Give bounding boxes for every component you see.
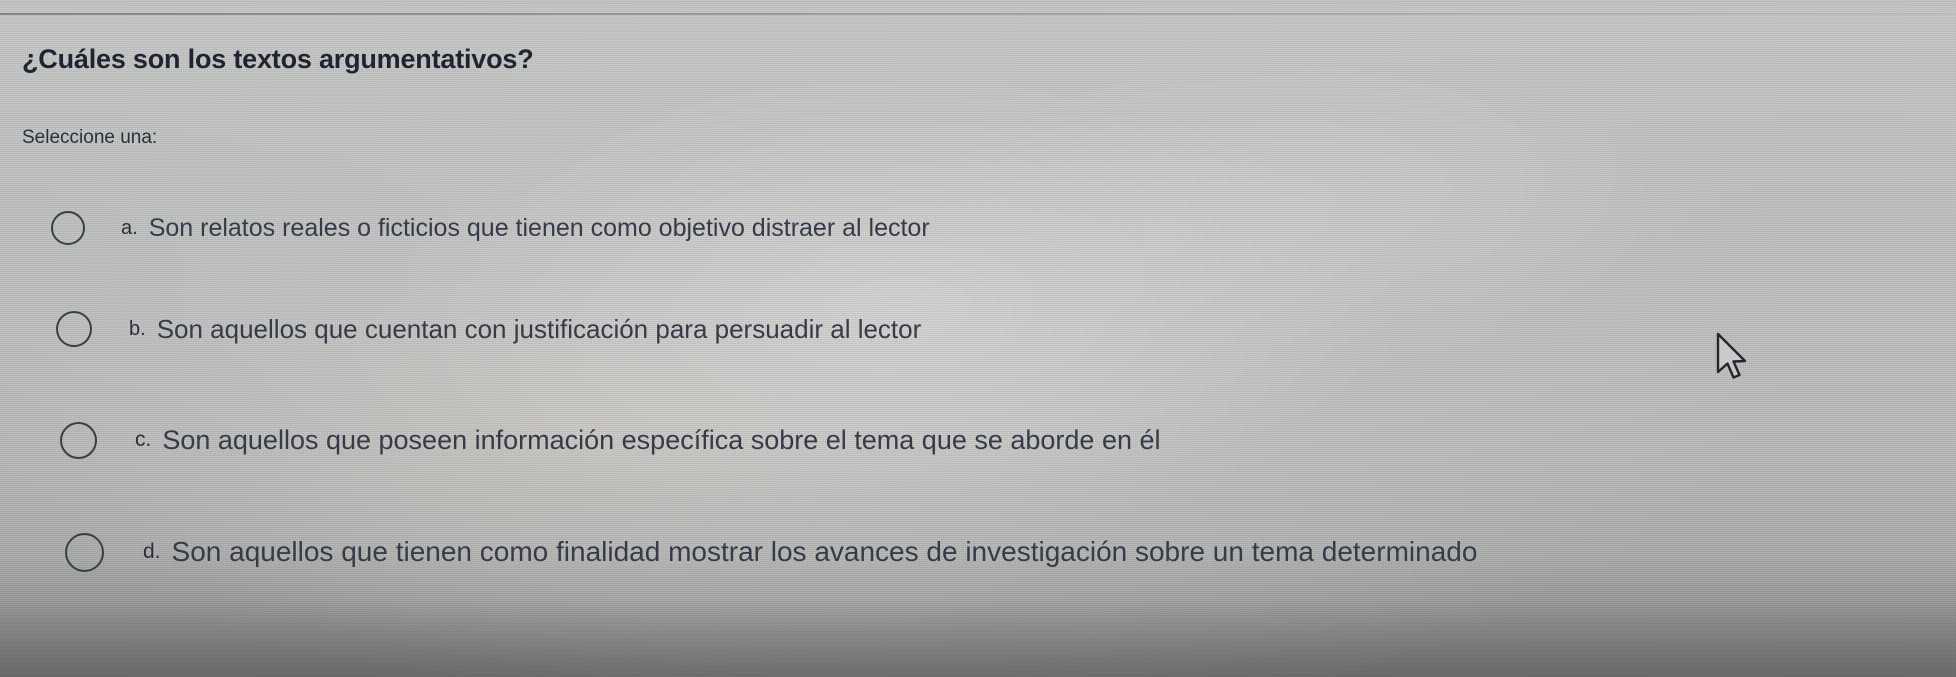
answer-option-c[interactable]: c. Son aquellos que poseen información e… bbox=[0, 384, 1956, 496]
option-text-c[interactable]: Son aquellos que poseen información espe… bbox=[162, 425, 1160, 456]
option-text-b[interactable]: Son aquellos que cuentan con justificaci… bbox=[157, 314, 922, 345]
question-title: ¿Cuáles son los textos argumentativos? bbox=[22, 44, 534, 75]
radio-button-c[interactable] bbox=[60, 422, 97, 459]
answer-options-list: a. Son relatos reales o ficticios que ti… bbox=[0, 182, 1956, 608]
answer-option-d[interactable]: d. Son aquellos que tienen como finalida… bbox=[0, 496, 1956, 608]
radio-button-a[interactable] bbox=[51, 211, 85, 245]
option-letter-c: c. bbox=[135, 428, 151, 452]
answer-option-b[interactable]: b. Son aquellos que cuentan con justific… bbox=[0, 274, 1956, 384]
answer-option-a[interactable]: a. Son relatos reales o ficticios que ti… bbox=[0, 182, 1956, 274]
option-letter-a: a. bbox=[121, 217, 138, 240]
select-one-instruction: Seleccione una: bbox=[22, 127, 157, 149]
option-text-d[interactable]: Son aquellos que tienen como finalidad m… bbox=[172, 536, 1478, 568]
option-letter-b: b. bbox=[129, 318, 146, 341]
radio-button-b[interactable] bbox=[56, 311, 92, 347]
radio-button-d[interactable] bbox=[65, 533, 104, 572]
question-content: ¿Cuáles son los textos argumentativos? S… bbox=[0, 0, 1956, 677]
option-text-a[interactable]: Son relatos reales o ficticios que tiene… bbox=[149, 214, 930, 243]
option-letter-d: d. bbox=[143, 540, 161, 564]
